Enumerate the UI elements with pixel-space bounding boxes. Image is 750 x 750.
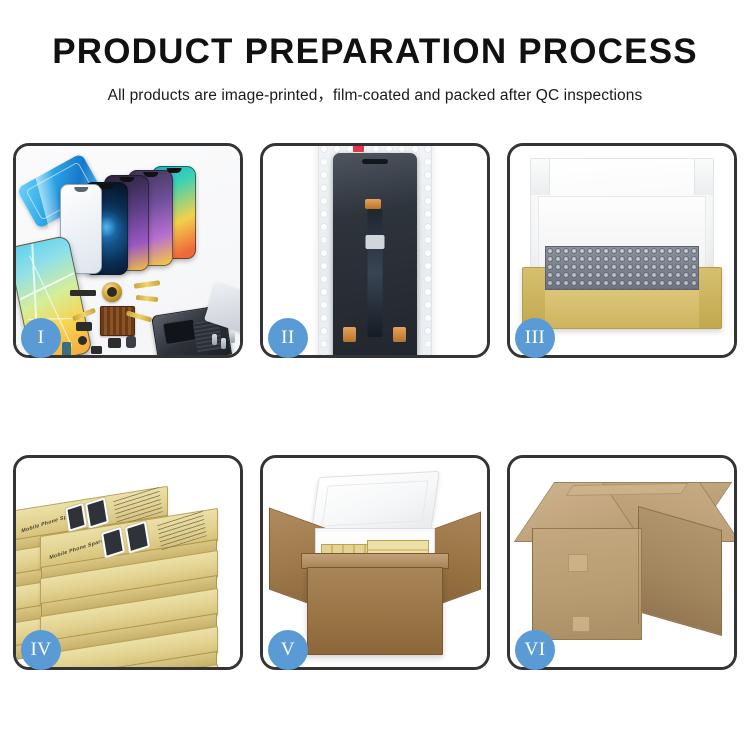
page-title: PRODUCT PREPARATION PROCESS: [0, 34, 750, 69]
poster-root: PRODUCT PREPARATION PROCESS All products…: [0, 0, 750, 750]
step-panel-2[interactable]: II: [260, 143, 490, 358]
small-part: [126, 336, 136, 348]
bubble-wrap-bag: [318, 146, 432, 355]
step-panel-3[interactable]: III: [507, 143, 737, 358]
printed-screen-image: [125, 521, 150, 554]
carton-body: [307, 567, 443, 655]
step-panel-5[interactable]: V: [260, 455, 490, 670]
step-badge-6: VI: [515, 630, 555, 670]
carton-edge-seam: [638, 516, 639, 624]
poster-header: PRODUCT PREPARATION PROCESS All products…: [0, 0, 750, 105]
screw-icon: [212, 334, 217, 345]
tape-tab: [568, 554, 588, 572]
page-subtitle: All products are image-printed，film-coat…: [0, 83, 750, 105]
small-part: [76, 322, 92, 331]
notch-icon: [143, 172, 158, 177]
step-panel-4[interactable]: Mobile Phone Spare Parts Mobile Phone Sp…: [13, 455, 243, 670]
small-part: [62, 342, 71, 355]
notch-icon: [74, 187, 88, 192]
screw-icon: [221, 338, 226, 349]
step-badge-2: II: [268, 318, 308, 358]
kraft-tray: [522, 267, 722, 329]
process-step-grid: I II: [13, 143, 737, 670]
box-side: [41, 651, 217, 667]
step-panel-6[interactable]: VI: [507, 455, 737, 670]
open-inner-box: [522, 156, 722, 345]
step-badge-5: V: [268, 630, 308, 670]
connector-icon: [343, 327, 356, 342]
connector-icon: [393, 327, 406, 342]
notch-icon: [167, 168, 182, 173]
tray-lip-right: [699, 268, 721, 328]
step-badge-4: IV: [21, 630, 61, 670]
notch-icon: [99, 184, 114, 189]
open-shipping-carton: [271, 466, 479, 661]
small-part: [108, 338, 121, 348]
tape-tab: [572, 616, 590, 632]
connector-icon: [365, 199, 381, 209]
step-badge-1: I: [21, 318, 61, 358]
small-part: [91, 346, 102, 354]
display-ribbon-cable: [368, 209, 383, 337]
bubble-wrapped-contents: [545, 246, 699, 290]
small-part: [78, 336, 87, 345]
step-panel-1[interactable]: I: [13, 143, 243, 358]
packing-tape: [566, 483, 689, 496]
carton-edge-seam: [532, 528, 533, 638]
carton-side-face: [638, 506, 722, 636]
red-tab-sticker: [353, 146, 364, 152]
step-badge-3: III: [515, 318, 555, 358]
screw-icon: [230, 332, 235, 343]
vibration-motor-icon: [102, 282, 122, 302]
notch-icon: [119, 177, 134, 182]
earpiece-mesh: [70, 290, 96, 296]
